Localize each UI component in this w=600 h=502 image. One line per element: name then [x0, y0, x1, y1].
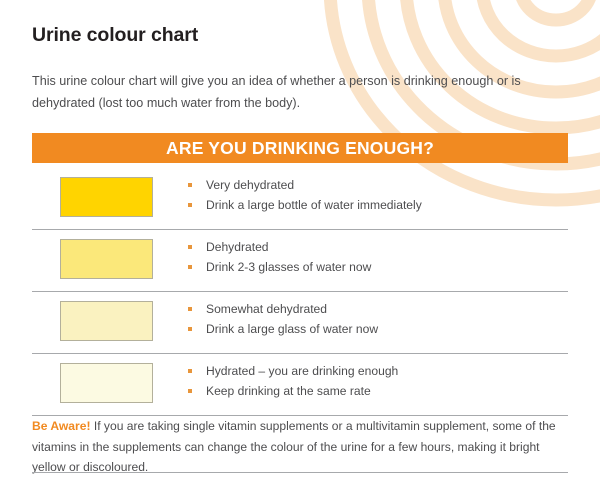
row-bullets: Somewhat dehydrated Drink a large glass … [185, 299, 555, 339]
colour-swatch [60, 239, 153, 279]
list-item: Somewhat dehydrated [185, 299, 555, 319]
advice-label: Drink 2-3 glasses of water now [206, 260, 371, 274]
bullet-icon [188, 183, 192, 187]
list-item: Hydrated – you are drinking enough [185, 361, 555, 381]
list-item: Drink 2-3 glasses of water now [185, 257, 555, 277]
table-row: Hydrated – you are drinking enough Keep … [32, 354, 568, 416]
advice-label: Drink a large glass of water now [206, 322, 378, 336]
bullet-icon [188, 307, 192, 311]
status-label: Very dehydrated [206, 178, 294, 192]
status-label: Somewhat dehydrated [206, 302, 327, 316]
advice-label: Keep drinking at the same rate [206, 384, 371, 398]
bullet-icon [188, 327, 192, 331]
banner: ARE YOU DRINKING ENOUGH? [32, 133, 568, 163]
status-label: Hydrated – you are drinking enough [206, 364, 398, 378]
urine-colour-chart-page: Urine colour chart This urine colour cha… [0, 0, 600, 502]
bullet-icon [188, 203, 192, 207]
list-item: Dehydrated [185, 237, 555, 257]
bullet-icon [188, 245, 192, 249]
row-bullets: Very dehydrated Drink a large bottle of … [185, 175, 555, 215]
page-title: Urine colour chart [32, 24, 198, 47]
bullet-icon [188, 369, 192, 373]
list-item: Drink a large glass of water now [185, 319, 555, 339]
colour-swatch [60, 301, 153, 341]
bullet-icon [188, 265, 192, 269]
bullet-icon [188, 389, 192, 393]
table-row: Somewhat dehydrated Drink a large glass … [32, 292, 568, 354]
footer-separator [32, 472, 568, 473]
colour-swatch [60, 363, 153, 403]
advice-label: Drink a large bottle of water immediatel… [206, 198, 422, 212]
colour-swatch [60, 177, 153, 217]
table-row: Very dehydrated Drink a large bottle of … [32, 168, 568, 230]
be-aware-note: Be Aware! If you are taking single vitam… [32, 416, 556, 478]
status-label: Dehydrated [206, 240, 269, 254]
be-aware-lead: Be Aware! [32, 419, 90, 433]
list-item: Drink a large bottle of water immediatel… [185, 195, 555, 215]
list-item: Keep drinking at the same rate [185, 381, 555, 401]
row-bullets: Dehydrated Drink 2-3 glasses of water no… [185, 237, 555, 277]
be-aware-body: If you are taking single vitamin supplem… [32, 419, 556, 474]
intro-paragraph: This urine colour chart will give you an… [32, 70, 548, 114]
row-bullets: Hydrated – you are drinking enough Keep … [185, 361, 555, 401]
banner-label: ARE YOU DRINKING ENOUGH? [166, 138, 434, 159]
table-row: Dehydrated Drink 2-3 glasses of water no… [32, 230, 568, 292]
list-item: Very dehydrated [185, 175, 555, 195]
